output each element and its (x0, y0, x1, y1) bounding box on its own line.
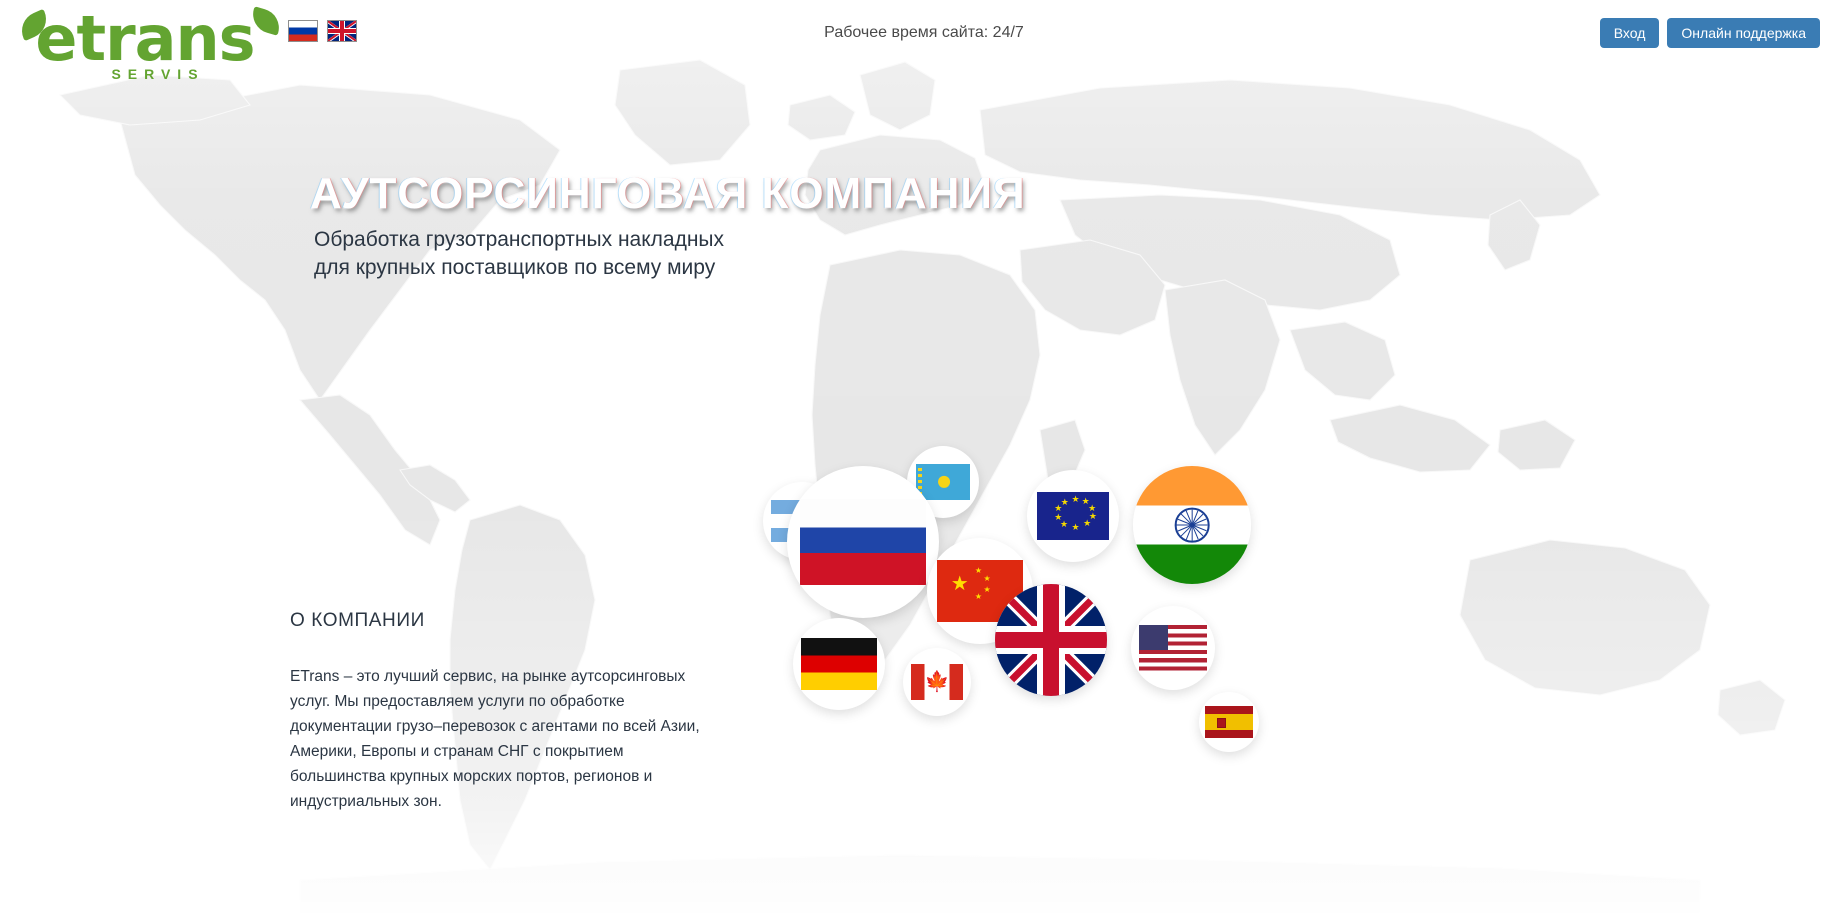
site-logo[interactable]: etrans SERVIS (18, 8, 258, 100)
header-actions: Вход Онлайн поддержка (1600, 18, 1820, 48)
flag-spain[interactable] (1199, 692, 1259, 752)
working-hours-text: Рабочее время сайта: 24/7 (0, 24, 1848, 42)
flag-united-kingdom[interactable] (995, 584, 1107, 696)
about-body: ETrans – это лучший сервис, на рынке аут… (290, 664, 710, 814)
flag-india[interactable] (1133, 466, 1251, 584)
about-section: О КОМПАНИИ ETrans – это лучший сервис, н… (290, 610, 710, 814)
about-heading: О КОМПАНИИ (290, 610, 710, 632)
page-title: АУТСОРСИНГОВАЯ КОМПАНИЯ (310, 168, 1026, 220)
site-header: etrans SERVIS Рабочее время сайта: 24/7 … (0, 0, 1848, 100)
hero-section: АУТСОРСИНГОВАЯ КОМПАНИЯ Обработка грузот… (310, 168, 1026, 282)
flag-cluster: ★ ★ ★ ★ ★ ★ ★ ★ ★ ★ (755, 440, 1315, 780)
flag-russia[interactable] (787, 466, 939, 618)
online-support-button[interactable]: Онлайн поддержка (1667, 18, 1820, 48)
flag-european-union[interactable]: ★ ★ ★ ★ ★ ★ ★ ★ ★ ★ (1027, 470, 1119, 562)
flag-germany[interactable] (793, 618, 885, 710)
hero-subtitle-line2: для крупных поставщиков по всему миру (314, 256, 715, 279)
flag-canada[interactable]: 🍁 (903, 648, 971, 716)
hero-subtitle: Обработка грузотранспортных накладных дл… (314, 226, 1026, 282)
login-button[interactable]: Вход (1600, 18, 1660, 48)
flag-usa[interactable] (1131, 606, 1215, 690)
hero-subtitle-line1: Обработка грузотранспортных накладных (314, 228, 724, 251)
